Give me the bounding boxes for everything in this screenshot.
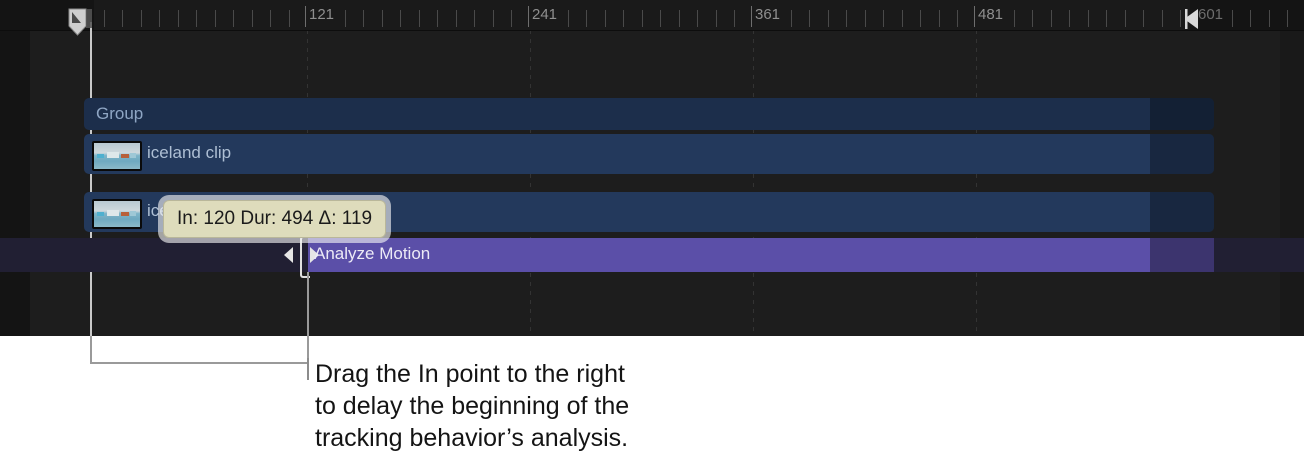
row-dim-overlay <box>1150 98 1214 130</box>
row-dim-overlay <box>1150 238 1214 272</box>
callout-line-right <box>307 272 309 364</box>
screenshot-root: 121 241 361 481 601 Group <box>0 0 1304 474</box>
callout-tick <box>307 358 309 380</box>
row-dim-overlay <box>1150 134 1214 174</box>
timeline-right-gutter <box>1280 0 1304 336</box>
gridline <box>976 30 977 336</box>
video-thumbnail-icon <box>92 199 142 229</box>
track-row-clip-1[interactable]: iceland clip <box>84 134 1214 174</box>
annotation-line-2: to delay the beginning of the <box>315 390 745 422</box>
gridline <box>530 30 531 336</box>
row-dim-overlay <box>1150 192 1214 232</box>
play-range-end-marker-icon[interactable] <box>1185 9 1199 29</box>
callout-line-left <box>90 336 92 364</box>
group-label: Group <box>96 104 143 124</box>
track-row-group[interactable]: Group <box>84 98 1214 130</box>
timeline-left-gutter <box>0 0 30 336</box>
annotation-text: Drag the In point to the right to delay … <box>315 358 745 454</box>
drag-tooltip: In: 120 Dur: 494 Δ: 119 <box>163 200 386 238</box>
ruler-label-481: 481 <box>978 7 1003 23</box>
tooltip-text: In: 120 Dur: 494 Δ: 119 <box>177 208 372 230</box>
ruler-label-241: 241 <box>532 7 557 23</box>
timeline-ruler[interactable]: 121 241 361 481 601 <box>0 0 1304 31</box>
annotation-line-1: Drag the In point to the right <box>315 358 745 390</box>
ruler-label-361: 361 <box>755 7 780 23</box>
callout-line-horizontal <box>90 362 309 364</box>
play-range-start-marker-icon[interactable] <box>68 8 94 36</box>
ruler-label-121: 121 <box>309 7 334 23</box>
trim-left-arrow-icon[interactable] <box>284 247 293 263</box>
video-thumbnail-icon <box>92 141 142 171</box>
ruler-label-601: 601 <box>1198 7 1223 23</box>
timeline-panel: 121 241 361 481 601 Group <box>0 0 1304 336</box>
annotation-line-3: tracking behavior’s analysis. <box>315 422 745 454</box>
behavior-bar-analyze-motion[interactable] <box>308 238 1214 272</box>
playhead-line <box>90 22 92 336</box>
gridline <box>753 30 754 336</box>
behavior-label: Analyze Motion <box>314 244 430 264</box>
clip-label: iceland clip <box>147 143 231 163</box>
